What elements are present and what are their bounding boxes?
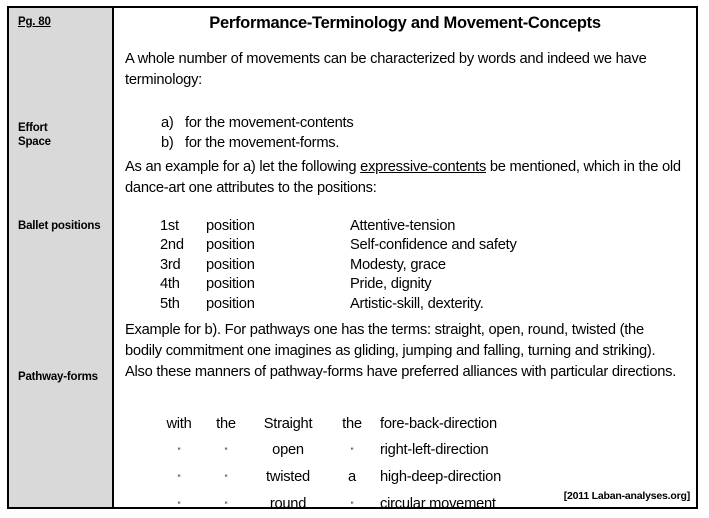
position-ordinal: 3rd <box>160 256 206 275</box>
pathway-article-ditto: “ <box>332 491 372 518</box>
copyright-credit: [2011 Laban-analyses.org] <box>564 490 690 502</box>
document-page: Pg. 80 Effort Space Ballet positions Pat… <box>7 6 698 509</box>
table-row: 1st position Attentive-tension <box>160 217 517 236</box>
table-row: 5th position Artistic-skill, dexterity. <box>160 295 517 314</box>
document-body: Performance-Terminology and Movement-Con… <box>114 8 696 507</box>
pathway-article-ditto: “ <box>332 437 372 464</box>
table-row: with the Straight the fore-back-directio… <box>156 411 501 437</box>
position-ordinal: 4th <box>160 275 206 294</box>
pathway-directions-table: with the Straight the fore-back-directio… <box>156 411 501 518</box>
pathway-article: a <box>332 464 372 491</box>
sidebar-label-space: Space <box>18 136 108 150</box>
pathway-col2-ditto: “ <box>202 437 250 464</box>
pathway-direction: circular movement <box>372 491 501 518</box>
lettered-list: a) for the movement-contents b) for the … <box>161 113 353 153</box>
pathway-direction: high-deep-direction <box>372 464 501 491</box>
list-item: a) for the movement-contents <box>161 113 353 133</box>
sidebar-item-pathway-forms: Pathway-forms <box>18 371 108 385</box>
position-ordinal: 5th <box>160 295 206 314</box>
pathway-col1-ditto: “ <box>156 491 202 518</box>
list-marker: b) <box>161 133 185 153</box>
position-ordinal: 2nd <box>160 236 206 255</box>
table-row: “ “ open “ right-left-direction <box>156 437 501 464</box>
pathway-col2-ditto: “ <box>202 491 250 518</box>
list-item-text: for the movement-contents <box>185 113 353 133</box>
table-row: “ “ twisted a high-deep-direction <box>156 464 501 491</box>
table-row: 3rd position Modesty, grace <box>160 256 517 275</box>
list-item: b) for the movement-forms. <box>161 133 353 153</box>
position-meaning: Pride, dignity <box>350 275 517 294</box>
position-ordinal: 1st <box>160 217 206 236</box>
page-title: Performance-Terminology and Movement-Con… <box>114 14 696 33</box>
ballet-positions-table: 1st position Attentive-tension 2nd posit… <box>160 217 517 314</box>
intro-paragraph: A whole number of movements can be chara… <box>125 49 682 91</box>
position-meaning: Attentive-tension <box>350 217 517 236</box>
pathway-col2-ditto: “ <box>202 464 250 491</box>
position-meaning: Self-confidence and safety <box>350 236 517 255</box>
sidebar-page-number: Pg. 80 <box>18 16 108 30</box>
pathway-form: round <box>250 491 332 518</box>
position-word: position <box>206 217 350 236</box>
position-word: position <box>206 295 350 314</box>
pathway-col1: with <box>156 411 202 437</box>
table-row: “ “ round “ circular movement <box>156 491 501 518</box>
example-a-text-before: As an example for a) let the following <box>125 159 360 175</box>
table-row: 2nd position Self-confidence and safety <box>160 236 517 255</box>
expressive-contents-underlined: expressive-contents <box>360 159 486 175</box>
position-meaning: Artistic-skill, dexterity. <box>350 295 517 314</box>
table-row: 4th position Pride, dignity <box>160 275 517 294</box>
pathway-form: Straight <box>250 411 332 437</box>
pathway-col1-ditto: “ <box>156 464 202 491</box>
sidebar-item-ballet-positions: Ballet positions <box>18 220 108 234</box>
example-b-paragraph: Example for b). For pathways one has the… <box>125 320 684 383</box>
pathway-direction: right-left-direction <box>372 437 501 464</box>
pathway-col1-ditto: “ <box>156 437 202 464</box>
sidebar-item-effort-space: Effort Space <box>18 122 108 149</box>
position-word: position <box>206 236 350 255</box>
position-word: position <box>206 275 350 294</box>
list-marker: a) <box>161 113 185 133</box>
pathway-article: the <box>332 411 372 437</box>
pathway-col2: the <box>202 411 250 437</box>
example-a-paragraph: As an example for a) let the following e… <box>125 157 686 199</box>
pathway-form: twisted <box>250 464 332 491</box>
sidebar-label-effort: Effort <box>18 122 108 136</box>
pathway-direction: fore-back-direction <box>372 411 501 437</box>
position-meaning: Modesty, grace <box>350 256 517 275</box>
margin-sidebar: Pg. 80 Effort Space Ballet positions Pat… <box>9 8 114 507</box>
list-item-text: for the movement-forms. <box>185 133 339 153</box>
pathway-form: open <box>250 437 332 464</box>
position-word: position <box>206 256 350 275</box>
